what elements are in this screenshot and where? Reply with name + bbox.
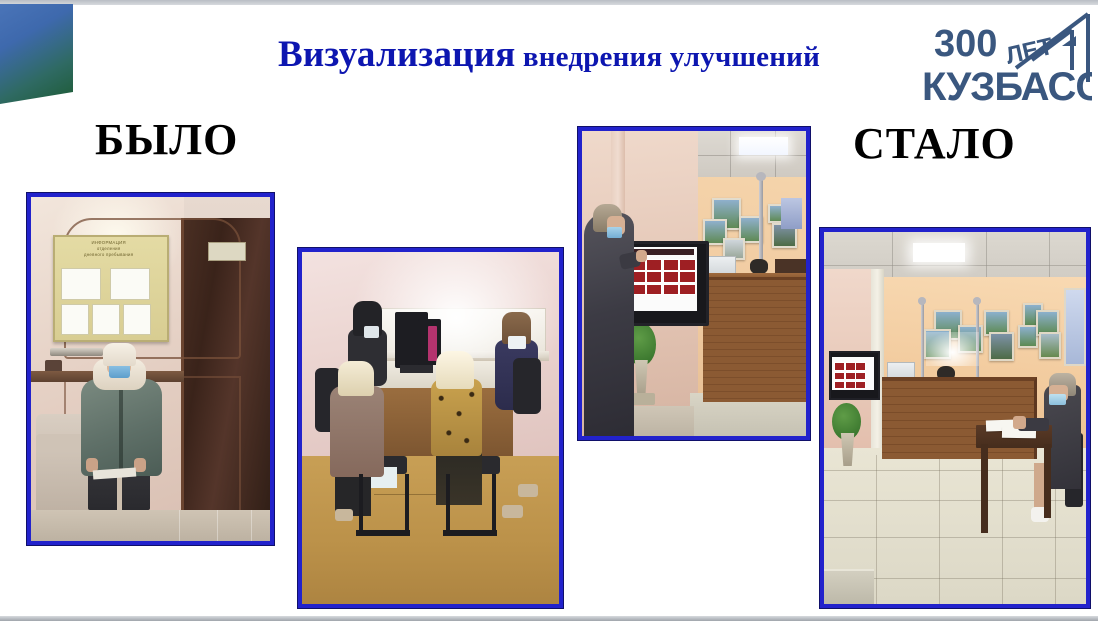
- svg-text:300: 300: [934, 23, 997, 65]
- bottom-edge-rule: [0, 616, 1098, 621]
- top-edge-rule: [0, 0, 1098, 5]
- label-before: БЫЛО: [95, 118, 238, 162]
- photo-before-office-image: [302, 252, 559, 604]
- title-remainder: внедрения улучшений: [515, 41, 820, 73]
- photo-before-corridor-image: ИНФОРМАЦИЯ отделения дневного пребывания: [31, 197, 270, 541]
- photo-after-lobby[interactable]: [820, 228, 1090, 608]
- kuzbass-300-logo: 300 ЛЕТ КУЗБАСС: [912, 8, 1092, 112]
- photo-after-kiosk-image: [582, 131, 806, 436]
- information-board-text: ИНФОРМАЦИЯ отделения дневного пребывания: [60, 240, 158, 264]
- photo-after-kiosk[interactable]: [578, 127, 810, 440]
- label-after: СТАЛО: [853, 122, 1016, 166]
- slide-canvas: Визуализация внедрения улучшений 300 ЛЕТ…: [0, 0, 1098, 621]
- title-emphasis: Визуализация: [278, 34, 515, 75]
- svg-text:КУЗБАСС: КУЗБАСС: [922, 65, 1092, 109]
- photo-after-lobby-image: [824, 232, 1086, 604]
- photo-before-corridor[interactable]: ИНФОРМАЦИЯ отделения дневного пребывания: [27, 193, 274, 545]
- photo-before-office[interactable]: [298, 248, 563, 608]
